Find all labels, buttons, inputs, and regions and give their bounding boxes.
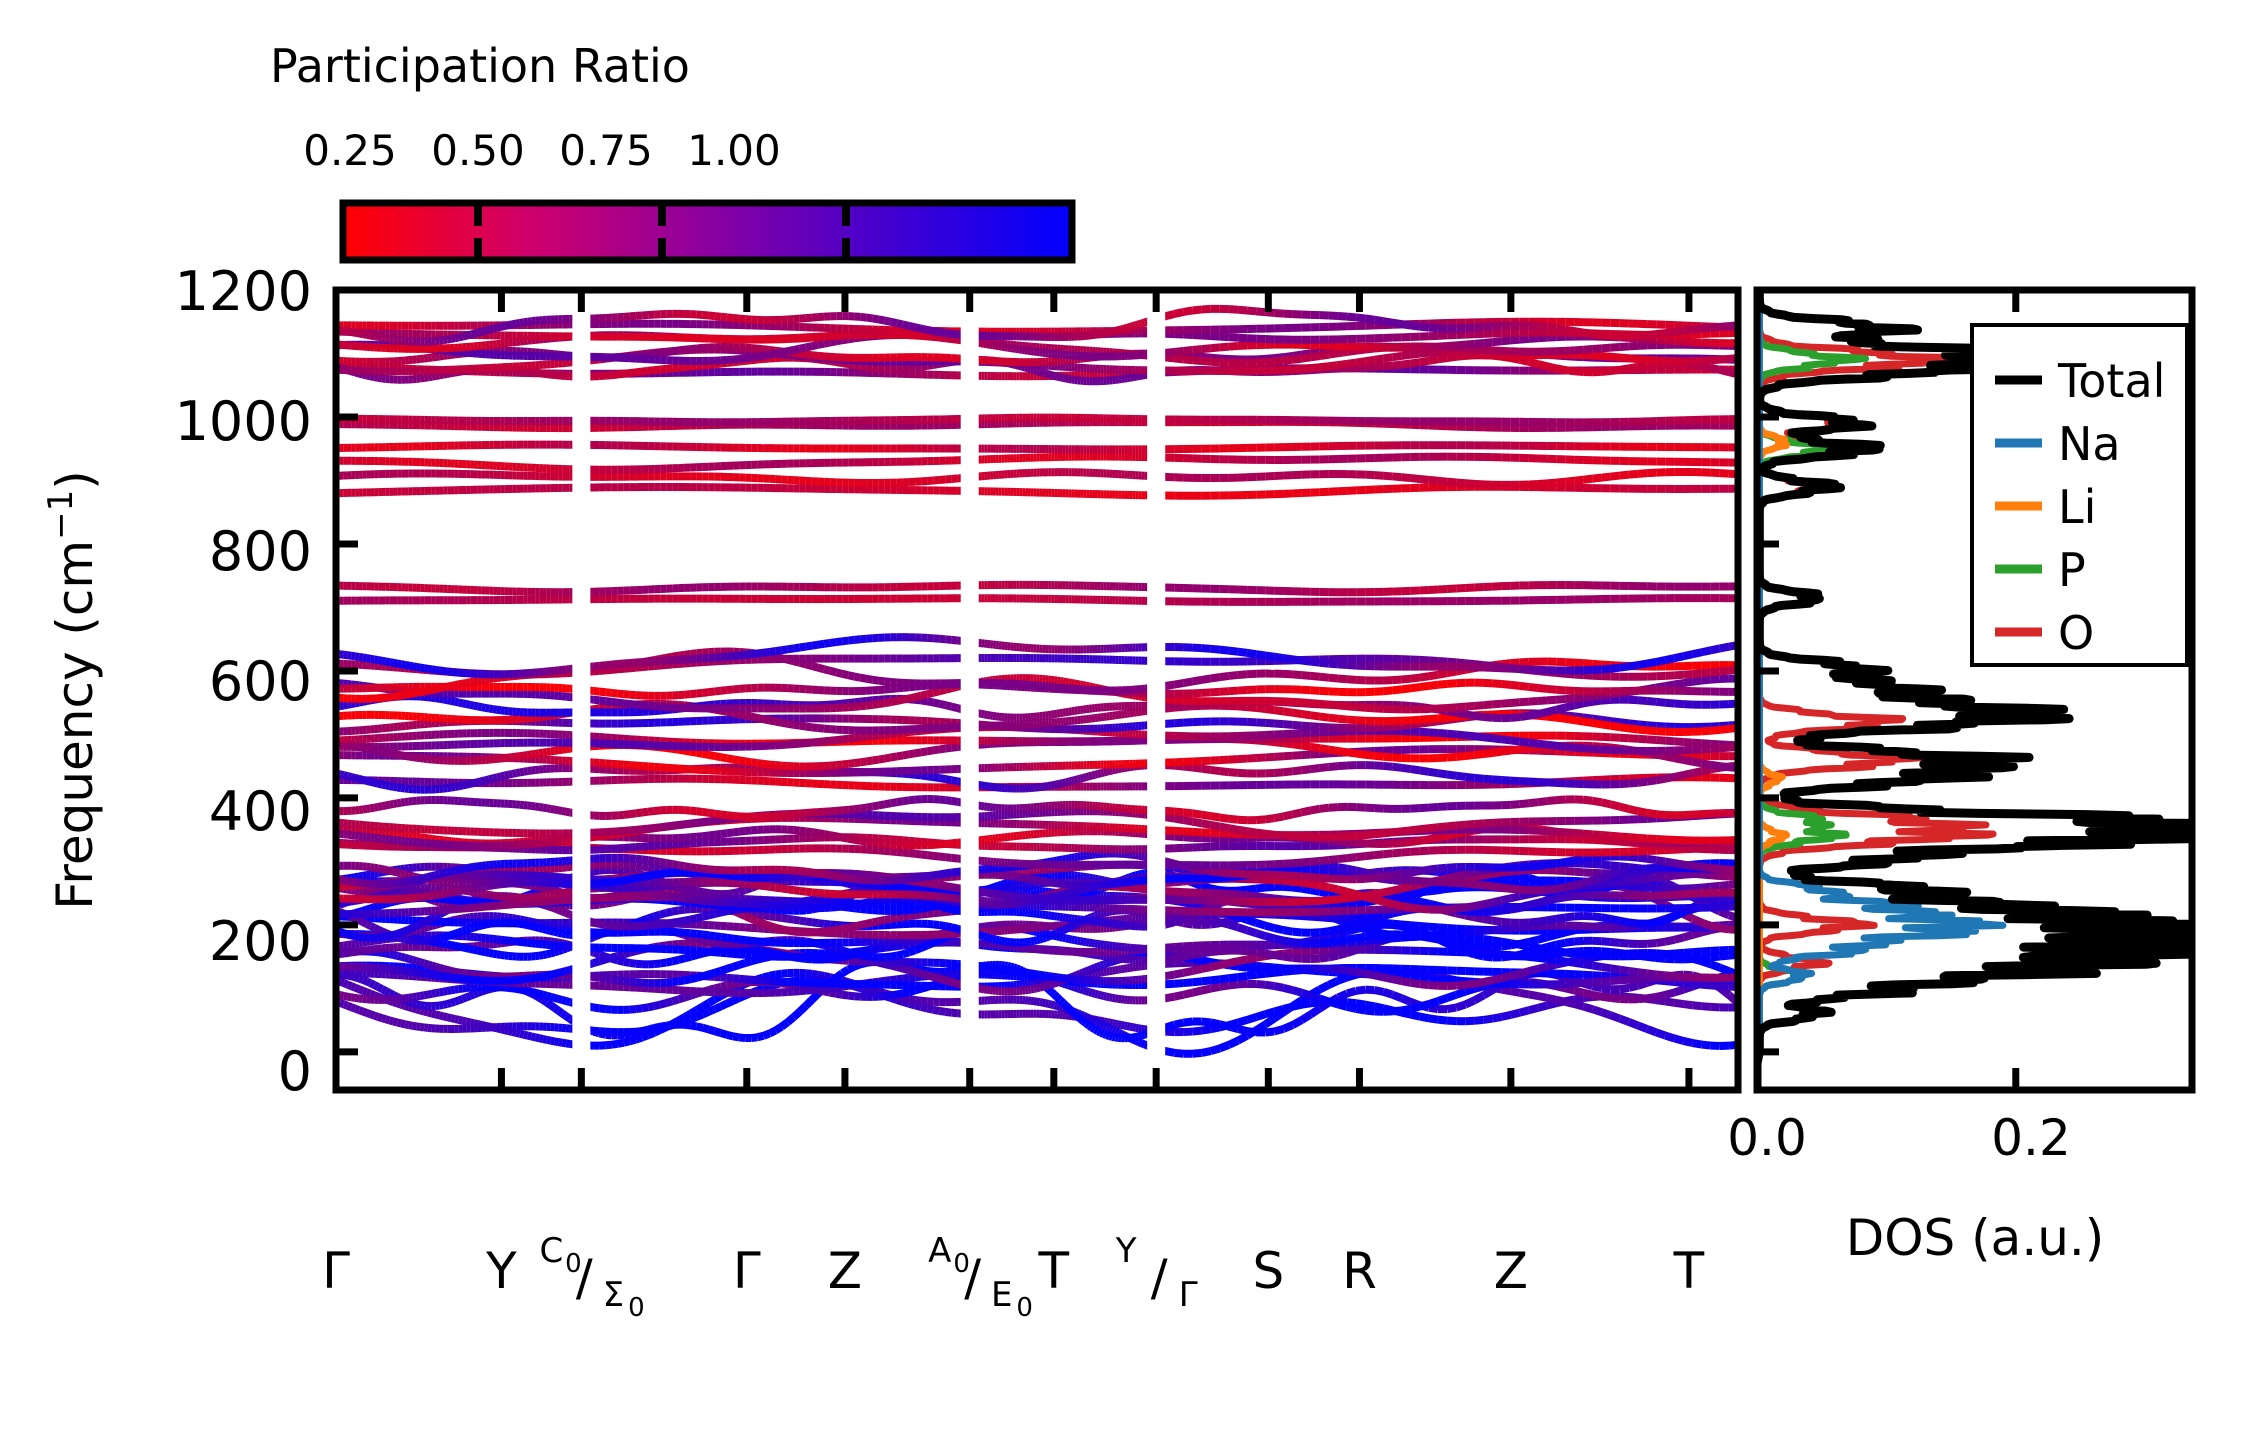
band-segment (413, 972, 417, 973)
band-segment (1656, 1032, 1665, 1035)
band-segment (1083, 1021, 1086, 1023)
band-segment (1229, 984, 1238, 985)
band-segment (1556, 960, 1565, 961)
band-segment (600, 933, 606, 934)
band-segment (1048, 1004, 1051, 1005)
band-segment (1193, 924, 1202, 925)
band-segment (800, 1006, 806, 1012)
band-segment (721, 969, 727, 971)
band-segment (715, 996, 721, 999)
band-segment (1183, 1032, 1192, 1033)
band-segment (1072, 940, 1075, 941)
band-segment (1338, 905, 1347, 906)
band-segment (715, 942, 721, 943)
band-segment (1072, 986, 1075, 987)
band-segment (355, 998, 359, 999)
band-segment (1693, 932, 1702, 935)
band-segment (1174, 1053, 1183, 1054)
band-segment (1693, 984, 1702, 985)
band-segment (1034, 988, 1037, 989)
band-segment (1420, 978, 1429, 979)
band-segment (1393, 935, 1402, 936)
band-segment (909, 950, 915, 952)
band-segment (945, 980, 951, 982)
band-segment (463, 1021, 467, 1022)
band-segment (1693, 1043, 1702, 1045)
band-segment (428, 940, 432, 941)
band-segment (1583, 926, 1592, 927)
band-segment (1593, 1009, 1602, 1012)
band-segment (642, 918, 648, 920)
band-segment (624, 953, 630, 955)
band-segment (715, 1006, 721, 1009)
band-segment (397, 933, 401, 934)
band-segment (401, 1005, 405, 1006)
band-segment (474, 926, 478, 927)
band-segment (394, 955, 398, 956)
band-segment (709, 941, 715, 942)
band-segment (903, 916, 909, 917)
band-segment (854, 925, 860, 926)
band-segment (697, 1007, 703, 1011)
band-segment (660, 1026, 666, 1027)
band-segment (709, 952, 715, 953)
band-segment (800, 991, 806, 992)
band-segment (1083, 990, 1086, 991)
band-segment (348, 934, 352, 935)
band-segment (348, 985, 352, 987)
band-segment (1220, 963, 1229, 965)
band-segment (478, 925, 482, 926)
band-segment (939, 1011, 945, 1012)
band-segment (1438, 979, 1447, 980)
band-segment (1647, 922, 1656, 923)
band-segment (1565, 916, 1574, 917)
band-segment (466, 917, 470, 918)
band-segment (739, 963, 745, 965)
band-segment (897, 979, 903, 980)
band-segment (1320, 999, 1329, 1002)
band-segment (562, 911, 566, 913)
band-segment (478, 1024, 482, 1025)
band-segment (482, 1025, 486, 1026)
band-segment (848, 926, 854, 927)
band-segment (1211, 948, 1220, 949)
band-segment (359, 920, 363, 922)
band-segment (566, 913, 570, 915)
band-segment (1602, 941, 1611, 942)
band-segment (535, 977, 539, 978)
band-segment (1283, 930, 1292, 932)
y-tick-1200: 1200 (175, 260, 312, 323)
band-segment (367, 992, 371, 994)
band-segment (1045, 1003, 1048, 1004)
band-segment (709, 893, 715, 894)
band-segment (344, 933, 348, 934)
band-segment (436, 992, 440, 993)
band-segment (348, 944, 352, 945)
band-segment (432, 975, 436, 976)
band-segment (1356, 947, 1365, 950)
band-segment (952, 909, 958, 910)
band-segment (1483, 956, 1492, 957)
band-segment (1465, 984, 1474, 985)
band-segment (612, 979, 618, 980)
y-tick-400: 400 (209, 780, 312, 843)
band-segment (351, 944, 355, 945)
band-segment (382, 937, 386, 938)
band-segment (1092, 968, 1095, 969)
band-segment (1665, 940, 1674, 942)
band-segment (903, 978, 909, 979)
band-segment (715, 971, 721, 973)
band-segment (1629, 971, 1638, 972)
band-segment (1045, 985, 1048, 986)
band-segment (413, 997, 417, 998)
band-segment (1095, 915, 1098, 916)
band-segment (1283, 941, 1292, 943)
band-segment (1356, 937, 1365, 938)
band-segment (642, 1035, 648, 1037)
band-segment (1265, 973, 1274, 974)
band-segment (1145, 1034, 1148, 1035)
band-segment (497, 1028, 501, 1029)
band-segment (436, 1014, 440, 1015)
band-segment (535, 927, 539, 928)
band-segment (1493, 929, 1502, 930)
band-segment (1238, 917, 1247, 920)
band-segment (606, 1045, 612, 1046)
band-segment (558, 950, 562, 951)
band-segment (1101, 1033, 1104, 1034)
band-segment (1602, 917, 1611, 919)
band-segment (1638, 983, 1647, 986)
band-segment (1693, 1005, 1702, 1006)
band-segment (443, 976, 447, 977)
band-segment (624, 871, 630, 872)
band-segment (1474, 938, 1483, 939)
band-segment (1040, 933, 1043, 934)
band-segment (1356, 1009, 1365, 1011)
band-segment (386, 953, 390, 954)
band-segment (1139, 1042, 1142, 1043)
band-segment (1193, 969, 1202, 971)
band-segment (1547, 959, 1556, 960)
band-segment (1574, 983, 1583, 984)
band-segment (363, 991, 367, 993)
band-segment (727, 967, 733, 969)
band-segment (1565, 988, 1574, 990)
band-segment (1078, 1016, 1081, 1019)
band-segment (436, 967, 440, 968)
band-segment (1089, 1026, 1092, 1028)
band-segment (1347, 950, 1356, 953)
band-segment (1420, 891, 1429, 892)
band-segment (1338, 1004, 1347, 1007)
band-segment (618, 1035, 624, 1036)
band-segment (1465, 937, 1474, 938)
band-segment (1095, 1021, 1098, 1022)
band-segment (551, 907, 555, 908)
band-segment (466, 929, 470, 930)
band-segment (1060, 930, 1063, 931)
band-segment (1034, 940, 1037, 941)
band-segment (1511, 991, 1520, 993)
band-segment (1693, 919, 1702, 923)
band-segment (848, 952, 854, 954)
band-segment (371, 1014, 375, 1015)
band-segment (1220, 921, 1229, 923)
band-segment (606, 925, 612, 926)
band-segment (1538, 920, 1547, 921)
band-segment (788, 931, 794, 932)
band-segment (794, 920, 800, 921)
band-segment (1574, 954, 1583, 955)
band-segment (933, 940, 939, 943)
band-segment (794, 932, 800, 933)
band-segment (1063, 938, 1066, 939)
band-segment (666, 982, 672, 983)
band-segment (524, 990, 528, 991)
band-segment (524, 1035, 528, 1036)
band-segment (532, 992, 536, 993)
band-segment (703, 1028, 709, 1030)
band-segment (420, 922, 424, 924)
band-segment (459, 1020, 463, 1021)
band-segment (371, 926, 375, 928)
band-segment (1702, 1045, 1711, 1046)
band-segment (340, 954, 344, 955)
band-segment (1347, 971, 1356, 972)
band-segment (363, 950, 367, 951)
band-segment (721, 911, 727, 912)
band-segment (1611, 968, 1620, 969)
band-segment (1086, 970, 1089, 971)
band-segment (860, 909, 866, 910)
band-segment (709, 935, 715, 936)
band-segment (459, 931, 463, 932)
band-segment (757, 941, 763, 942)
band-segment (459, 947, 463, 948)
band-segment (1211, 965, 1220, 967)
band-segment (909, 944, 915, 945)
band-segment (344, 1004, 348, 1005)
band-segment (1665, 954, 1674, 955)
band-segment (436, 975, 440, 976)
band-segment (1411, 983, 1420, 984)
band-segment (363, 922, 367, 924)
band-segment (1069, 939, 1072, 940)
band-segment (1265, 1031, 1274, 1032)
band-segment (678, 1017, 684, 1020)
band-segment (440, 976, 444, 977)
band-segment (727, 1001, 733, 1004)
band-segment (1101, 913, 1104, 914)
band-segment (751, 919, 757, 922)
band-segment (539, 976, 543, 977)
band-segment (489, 923, 493, 924)
band-segment (1483, 990, 1492, 995)
band-segment (1520, 927, 1529, 928)
band-segment (697, 939, 703, 941)
band-segment (1311, 1008, 1320, 1014)
band-segment (1511, 928, 1520, 929)
band-segment (1051, 934, 1054, 935)
band-segment (600, 1033, 606, 1034)
band-segment (1474, 954, 1483, 956)
band-segment (867, 949, 873, 950)
band-segment (733, 939, 739, 940)
band-segment (1112, 1023, 1115, 1024)
band-segment (1183, 923, 1192, 924)
band-segment (1374, 990, 1383, 992)
band-segment (1104, 912, 1107, 913)
band-segment (1293, 952, 1302, 953)
band-segment (836, 929, 842, 930)
band-segment (1118, 1032, 1121, 1033)
band-segment (921, 914, 927, 915)
band-segment (1112, 1030, 1115, 1031)
band-segment (486, 952, 490, 953)
band-segment (417, 972, 421, 973)
band-segment (1583, 975, 1592, 976)
band-segment (1238, 927, 1247, 930)
band-segment (1402, 1009, 1411, 1011)
band-segment (1629, 1022, 1638, 1025)
band-segment (1183, 915, 1192, 919)
band-segment (1256, 933, 1265, 936)
band-segment (428, 1013, 432, 1014)
band-segment (769, 1030, 775, 1033)
band-segment (1711, 926, 1720, 928)
band-segment (1051, 1005, 1054, 1006)
band-segment (1193, 1053, 1202, 1054)
band-segment (1045, 937, 1048, 938)
band-segment (1078, 941, 1081, 942)
band-segment (1411, 977, 1420, 978)
band-segment (1647, 1029, 1656, 1032)
band-segment (909, 977, 915, 978)
band-segment (939, 925, 945, 926)
band-segment (1311, 951, 1320, 952)
band-segment (873, 921, 879, 922)
band-segment (1165, 1051, 1174, 1053)
band-segment (782, 1022, 788, 1026)
band-segment (1611, 980, 1620, 981)
band-segment (1183, 971, 1192, 973)
band-segment (470, 975, 474, 976)
band-segment (1647, 997, 1656, 998)
band-segment (642, 1007, 648, 1008)
band-segment (405, 1024, 409, 1025)
band-segment (382, 890, 386, 891)
y-tick-1000: 1000 (175, 390, 312, 453)
band-segment (1043, 1003, 1046, 1004)
band-segment (703, 892, 709, 893)
band-segment (1220, 985, 1229, 986)
band-segment (1374, 932, 1383, 934)
band-segment (1456, 1005, 1465, 1008)
band-segment (478, 951, 482, 952)
band-segment (1220, 1045, 1229, 1049)
band-segment (1629, 922, 1638, 923)
band-segment (618, 960, 624, 961)
band-segment (1465, 989, 1474, 992)
band-segment (1247, 975, 1256, 976)
band-segment (482, 925, 486, 926)
band-segment (824, 976, 830, 977)
band-segment (818, 989, 824, 990)
band-segment (897, 940, 903, 941)
band-segment (374, 928, 378, 930)
band-segment (1174, 919, 1183, 922)
band-segment (981, 936, 984, 937)
band-segment (1101, 972, 1104, 973)
band-segment (818, 975, 824, 976)
band-segment (1265, 936, 1274, 938)
band-segment (636, 1008, 642, 1009)
band-segment (348, 1006, 352, 1007)
band-segment (848, 967, 854, 970)
band-segment (1238, 890, 1247, 891)
band-segment (440, 1005, 444, 1006)
band-segment (1620, 943, 1629, 944)
band-segment (745, 949, 751, 950)
phonon-figure: Participation Ratio 0.25 0.50 0.75 1.00 … (0, 0, 2259, 1455)
band-segment (386, 1019, 390, 1020)
band-segment (351, 935, 355, 936)
band-segment (1193, 953, 1202, 955)
band-segment (466, 974, 470, 975)
band-segment (1683, 1004, 1692, 1005)
band-segment (812, 974, 818, 975)
band-segment (1720, 956, 1729, 957)
band-segment (654, 924, 660, 925)
band-segment (697, 917, 703, 918)
band-segment (593, 923, 599, 924)
band-segment (1520, 971, 1529, 973)
band-segment (593, 1032, 599, 1034)
band-segment (1329, 893, 1338, 894)
band-segment (1556, 1000, 1565, 1002)
band-segment (1118, 1024, 1121, 1025)
band-segment (1574, 1004, 1583, 1006)
band-segment (1075, 987, 1078, 988)
band-segment (1130, 1027, 1133, 1028)
band-segment (470, 928, 474, 929)
band-segment (1320, 916, 1329, 918)
band-segment (463, 918, 467, 919)
band-segment (984, 937, 987, 938)
band-segment (806, 921, 812, 922)
band-segment (606, 979, 612, 980)
band-segment (1702, 899, 1711, 900)
band-segment (1329, 906, 1338, 907)
band-segment (1095, 879, 1098, 880)
band-segment (1383, 914, 1392, 917)
band-segment (660, 963, 666, 964)
band-segment (528, 925, 532, 926)
band-segment (1602, 988, 1611, 989)
band-segment (1529, 922, 1538, 923)
band-segment (1529, 1008, 1538, 1010)
band-segment (413, 926, 417, 928)
band-segment (1547, 998, 1556, 1000)
band-segment (1702, 923, 1711, 926)
band-segment (921, 1007, 927, 1008)
colorbar-title: Participation Ratio (270, 39, 690, 93)
band-segment (1720, 968, 1729, 972)
